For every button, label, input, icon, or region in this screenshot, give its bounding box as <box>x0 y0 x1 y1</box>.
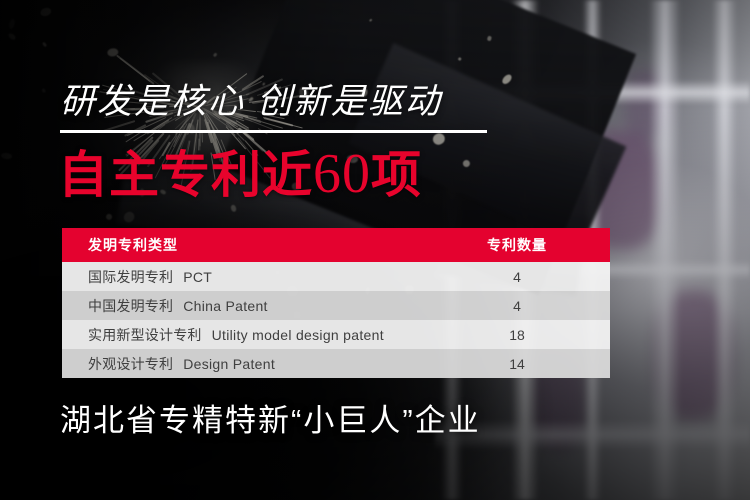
headline-red-prefix: 自主专利近 <box>58 147 313 203</box>
poster-content: 研发是核心 创新是驱动 自主专利近60项 发明专利类型 专利数量 国际发明专利P… <box>0 0 750 500</box>
patent-type-cn: 国际发明专利 <box>88 269 173 285</box>
headline-bottom: 湖北省专精特新“小巨人”企业 <box>60 402 481 440</box>
patent-table-body: 国际发明专利PCT4中国发明专利China Patent4实用新型设计专利Uti… <box>62 262 610 378</box>
cell-patent-type: 国际发明专利PCT <box>62 262 462 291</box>
table-row: 国际发明专利PCT4 <box>62 262 610 291</box>
cell-patent-type: 实用新型设计专利Utility model design patent <box>62 320 462 349</box>
column-header-count: 专利数量 <box>462 228 610 262</box>
headline-divider <box>60 130 487 133</box>
cell-patent-count: 14 <box>462 349 610 378</box>
headline-red-suffix: 项 <box>371 147 422 203</box>
table-header-row: 发明专利类型 专利数量 <box>62 228 610 262</box>
patent-table: 发明专利类型 专利数量 国际发明专利PCT4中国发明专利China Patent… <box>62 228 610 378</box>
patent-type-cn: 实用新型设计专利 <box>88 327 202 343</box>
patent-poster: 研发是核心 创新是驱动 自主专利近60项 发明专利类型 专利数量 国际发明专利P… <box>0 0 750 500</box>
cell-patent-type: 外观设计专利Design Patent <box>62 349 462 378</box>
patent-table-head: 发明专利类型 专利数量 <box>62 228 610 262</box>
headline-red-number: 60 <box>313 143 371 205</box>
table-row: 外观设计专利Design Patent14 <box>62 349 610 378</box>
cell-patent-count: 4 <box>462 262 610 291</box>
headline-red: 自主专利近60项 <box>58 145 422 204</box>
patent-type-cn: 外观设计专利 <box>88 356 173 372</box>
cell-patent-count: 18 <box>462 320 610 349</box>
patent-type-en: Design Patent <box>183 356 275 372</box>
patent-type-en: China Patent <box>183 298 268 314</box>
table-row: 实用新型设计专利Utility model design patent18 <box>62 320 610 349</box>
patent-type-cn: 中国发明专利 <box>88 298 173 314</box>
patent-type-en: Utility model design patent <box>212 327 384 343</box>
table-row: 中国发明专利China Patent4 <box>62 291 610 320</box>
headline-top: 研发是核心 创新是驱动 <box>60 82 442 122</box>
cell-patent-type: 中国发明专利China Patent <box>62 291 462 320</box>
cell-patent-count: 4 <box>462 291 610 320</box>
column-header-type: 发明专利类型 <box>62 228 462 262</box>
patent-type-en: PCT <box>183 269 212 285</box>
